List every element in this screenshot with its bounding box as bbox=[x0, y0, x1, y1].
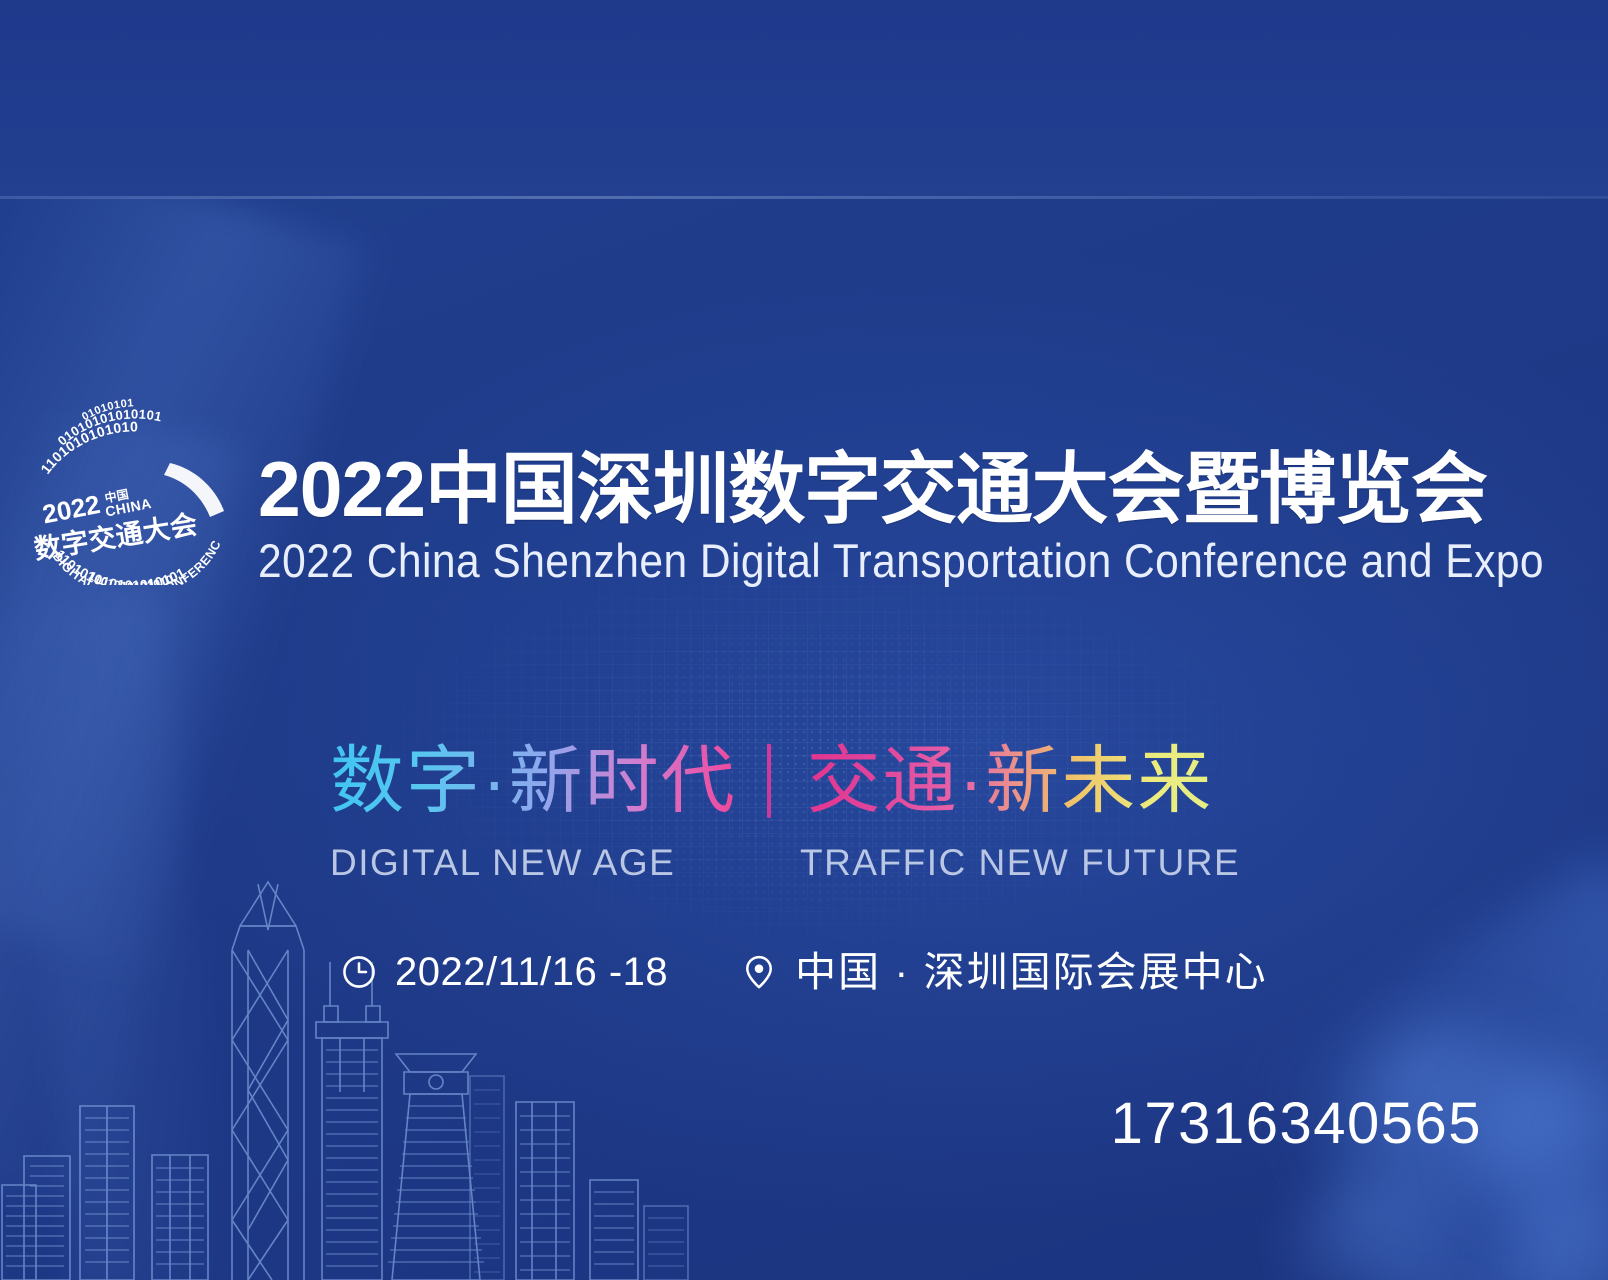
shenzhen-skyline-illustration bbox=[0, 850, 700, 1280]
image-seam-line bbox=[0, 196, 1608, 199]
slogan-english-block: DIGITAL NEW AGE TRAFFIC NEW FUTURE bbox=[330, 842, 1270, 884]
event-date: 2022/11/16 -18 bbox=[395, 950, 668, 994]
event-date-item: 2022/11/16 -18 bbox=[340, 950, 668, 994]
conference-poster: 01010101 01010101010101 1101010101010 11… bbox=[0, 0, 1608, 1280]
location-pin-icon bbox=[740, 953, 778, 991]
slogan-block: 数字·新时代 交通·新未来 bbox=[330, 735, 1270, 827]
event-meta-row: 2022/11/16 -18 中国 · 深圳国际会展中心 bbox=[340, 950, 1268, 994]
page-subtitle: 2022 China Shenzhen Digital Transportati… bbox=[258, 534, 1425, 588]
slogan-right-cn: 交通·新未来 bbox=[807, 735, 1214, 827]
contact-phone: 17316340565 bbox=[1111, 1092, 1482, 1156]
slogan-left-en: DIGITAL NEW AGE bbox=[330, 842, 800, 884]
top-color-band bbox=[0, 0, 1608, 198]
clock-icon bbox=[340, 953, 378, 991]
page-title: 2022中国深圳数字交通大会暨博览会 bbox=[258, 446, 1529, 532]
conference-logo: 01010101 01010101010101 1101010101010 11… bbox=[20, 385, 245, 585]
event-venue-item: 中国 · 深圳国际会展中心 bbox=[740, 950, 1267, 994]
slogan-left-cn: 数字·新时代 bbox=[330, 735, 737, 827]
headline-block: 2022中国深圳数字交通大会暨博览会 2022 China Shenzhen D… bbox=[258, 446, 1548, 588]
slogan-right-en: TRAFFIC NEW FUTURE bbox=[800, 842, 1270, 884]
slogan-divider bbox=[767, 744, 771, 818]
logo-year: 2022 bbox=[40, 489, 103, 529]
event-venue: 中国 · 深圳国际会展中心 bbox=[795, 950, 1267, 994]
